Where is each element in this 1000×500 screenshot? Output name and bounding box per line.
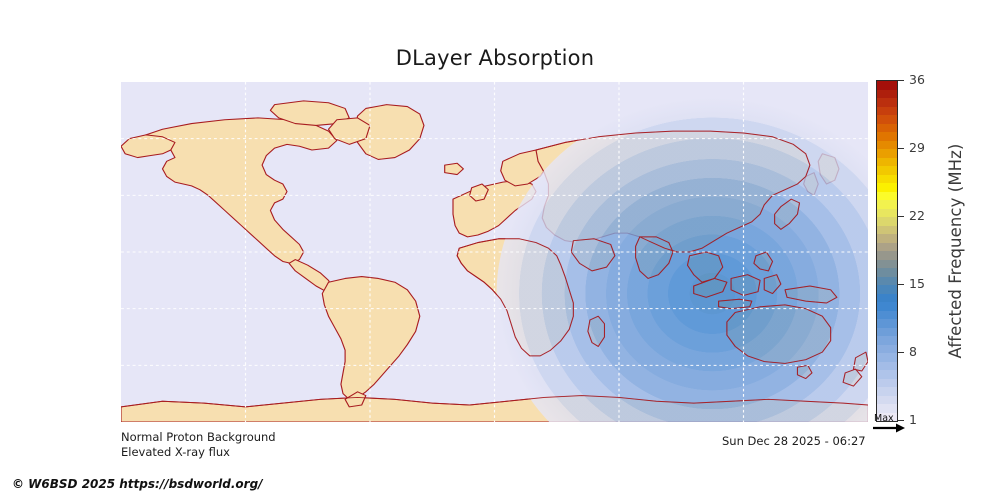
status-line-proton: Normal Proton Background — [121, 430, 276, 444]
colorbar-segment — [877, 166, 897, 175]
colorbar[interactable]: Max — [876, 80, 898, 422]
colorbar-segment — [877, 183, 897, 192]
colorbar-tick-mark — [898, 80, 904, 81]
colorbar-segment — [877, 345, 897, 354]
timestamp: Sun Dec 28 2025 - 06:27 — [722, 434, 866, 448]
page-title: DLayer Absorption — [0, 46, 990, 70]
colorbar-segment — [877, 243, 897, 252]
colorbar-segment — [877, 124, 897, 133]
colorbar-tick-mark — [898, 284, 904, 285]
colorbar-axis-label: Affected Frequency (MHz) — [946, 80, 970, 422]
colorbar-segment — [877, 234, 897, 243]
colorbar-tick-label: 1 — [909, 412, 917, 427]
colorbar-tick-label: 22 — [909, 208, 925, 223]
colorbar-segment — [877, 132, 897, 141]
colorbar-segment — [877, 353, 897, 362]
colorbar-tick-mark — [898, 420, 904, 421]
colorbar-tick-label: 29 — [909, 140, 925, 155]
colorbar-tick-mark — [898, 352, 904, 353]
colorbar-segment — [877, 379, 897, 388]
colorbar-segment — [877, 294, 897, 303]
colorbar-segment — [877, 158, 897, 167]
colorbar-segment — [877, 115, 897, 124]
colorbar-segment — [877, 107, 897, 116]
colorbar-segment — [877, 319, 897, 328]
colorbar-segment — [877, 217, 897, 226]
colorbar-segment — [877, 362, 897, 371]
colorbar-segment — [877, 200, 897, 209]
copyright-notice: © W6BSD 2025 https://bsdworld.org/ — [12, 477, 263, 491]
colorbar-segment — [877, 370, 897, 379]
colorbar-segment — [877, 311, 897, 320]
world-map[interactable] — [121, 82, 868, 422]
colorbar-segment — [877, 141, 897, 150]
colorbar-segment — [877, 387, 897, 396]
colorbar-tick-mark — [898, 148, 904, 149]
colorbar-segment — [877, 81, 897, 90]
colorbar-segment — [877, 404, 897, 413]
colorbar-segment — [877, 302, 897, 311]
colorbar-segment — [877, 285, 897, 294]
colorbar-tick-label: 15 — [909, 276, 925, 291]
colorbar-gradient — [876, 80, 898, 422]
colorbar-segment — [877, 396, 897, 405]
colorbar-segment — [877, 268, 897, 277]
dlayer-absorption-plot: DLayer Absorption — [0, 0, 1000, 500]
colorbar-segment — [877, 251, 897, 260]
colorbar-segment — [877, 336, 897, 345]
colorbar-tick-label: 36 — [909, 72, 925, 87]
colorbar-tick-label: 8 — [909, 344, 917, 359]
colorbar-segment — [877, 328, 897, 337]
colorbar-segment — [877, 226, 897, 235]
colorbar-segment — [877, 260, 897, 269]
colorbar-segment — [877, 277, 897, 286]
colorbar-segment — [877, 149, 897, 158]
colorbar-segment — [877, 209, 897, 218]
colorbar-segment — [877, 192, 897, 201]
colorbar-segment — [877, 90, 897, 99]
map-canvas — [121, 82, 868, 422]
status-line-xray: Elevated X-ray flux — [121, 445, 230, 459]
colorbar-segment — [877, 175, 897, 184]
colorbar-tick-mark — [898, 216, 904, 217]
colorbar-segment — [877, 98, 897, 107]
